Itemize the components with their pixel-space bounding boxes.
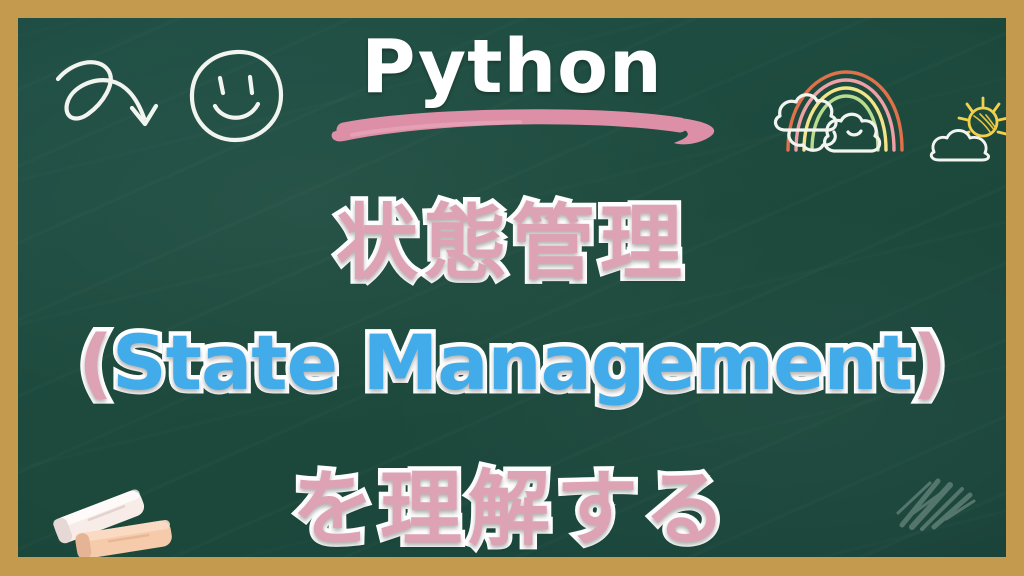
- open-paren: (: [78, 318, 112, 407]
- heading-line-english: (State Management): [18, 318, 1006, 407]
- thumbnail-canvas: Python 状態管理 (State Management) を理解する: [0, 0, 1024, 576]
- chalk-sticks-icon: [36, 467, 196, 557]
- heading-line-japanese-1: 状態管理: [18, 176, 1006, 295]
- heading-line-english-text: State Management: [112, 318, 912, 407]
- page-title: Python: [18, 24, 1006, 110]
- close-paren: ): [912, 318, 946, 407]
- chalkboard-surface: Python 状態管理 (State Management) を理解する: [18, 18, 1006, 557]
